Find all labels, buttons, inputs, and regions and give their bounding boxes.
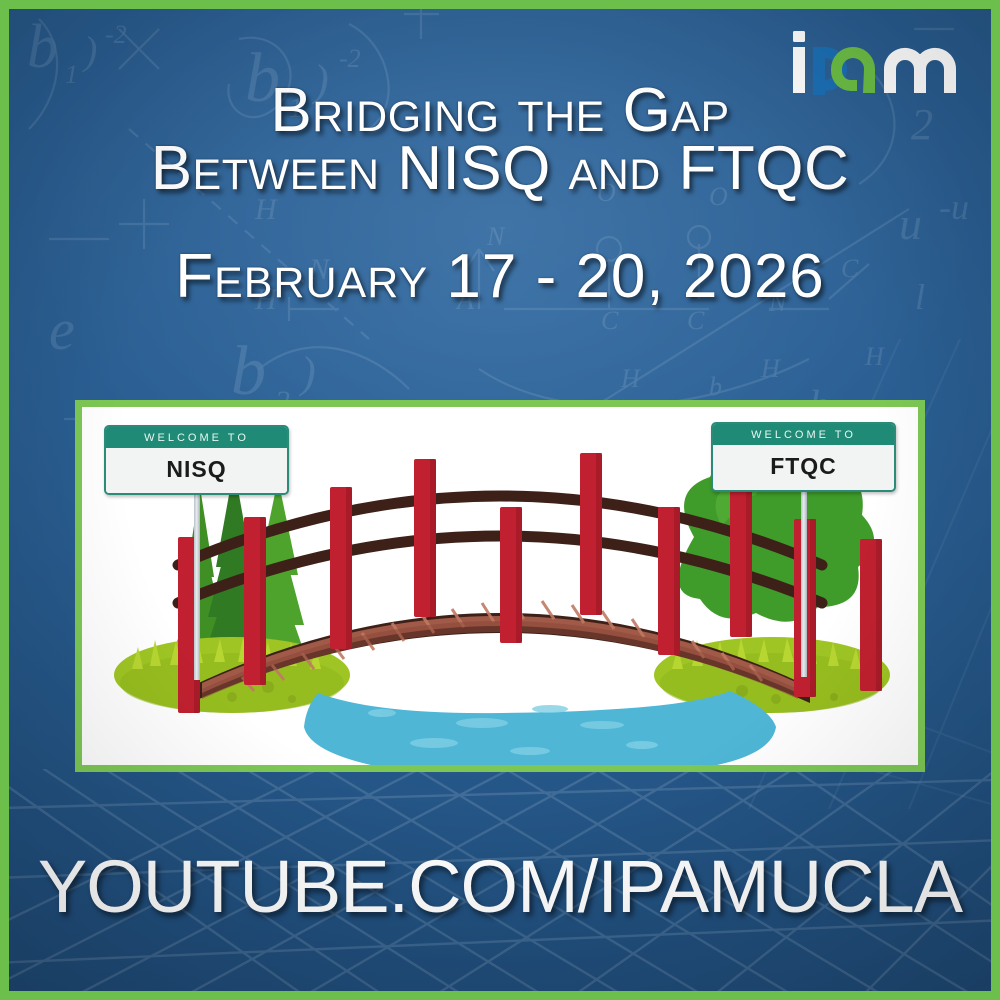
svg-text:u: u [899, 198, 922, 249]
svg-text:-2: -2 [105, 20, 127, 49]
workshop-dates: February 17 - 20, 2026 [9, 244, 991, 310]
poster-canvas: b 1 ) -2 b 1 ) -2 H H N b 2 ) A N C C N … [0, 0, 1000, 1000]
bridge-scene: WELCOME TO NISQ WELCOME TO FTQC [82, 407, 918, 765]
svg-text:H: H [760, 354, 781, 383]
sign-board-right: WELCOME TO FTQC [711, 422, 896, 492]
welcome-sign-nisq: WELCOME TO NISQ [104, 425, 289, 495]
sign-name-nisq: NISQ [106, 448, 287, 493]
bridge-illustration-panel: WELCOME TO NISQ WELCOME TO FTQC [75, 400, 925, 772]
svg-text:H: H [620, 364, 641, 393]
sign-post-right [801, 477, 807, 677]
sign-name-ftqc: FTQC [713, 445, 894, 490]
youtube-url[interactable]: YOUTUBE.COM/IPAMUCLA [9, 847, 991, 927]
welcome-sign-ftqc: WELCOME TO FTQC [711, 422, 896, 492]
svg-text:b: b [709, 372, 722, 401]
sign-post-left [194, 480, 200, 680]
svg-text:): ) [82, 28, 97, 73]
svg-text:): ) [298, 348, 316, 397]
svg-text:H: H [864, 342, 885, 371]
sign-top-label-left: WELCOME TO [106, 427, 287, 448]
sign-top-label-right: WELCOME TO [713, 424, 894, 445]
svg-text:-2: -2 [339, 44, 361, 73]
svg-text:b: b [231, 333, 266, 410]
svg-text:b: b [27, 13, 58, 81]
workshop-title-line-2: Between NISQ and FTQC [9, 137, 991, 201]
sign-board-left: WELCOME TO NISQ [104, 425, 289, 495]
